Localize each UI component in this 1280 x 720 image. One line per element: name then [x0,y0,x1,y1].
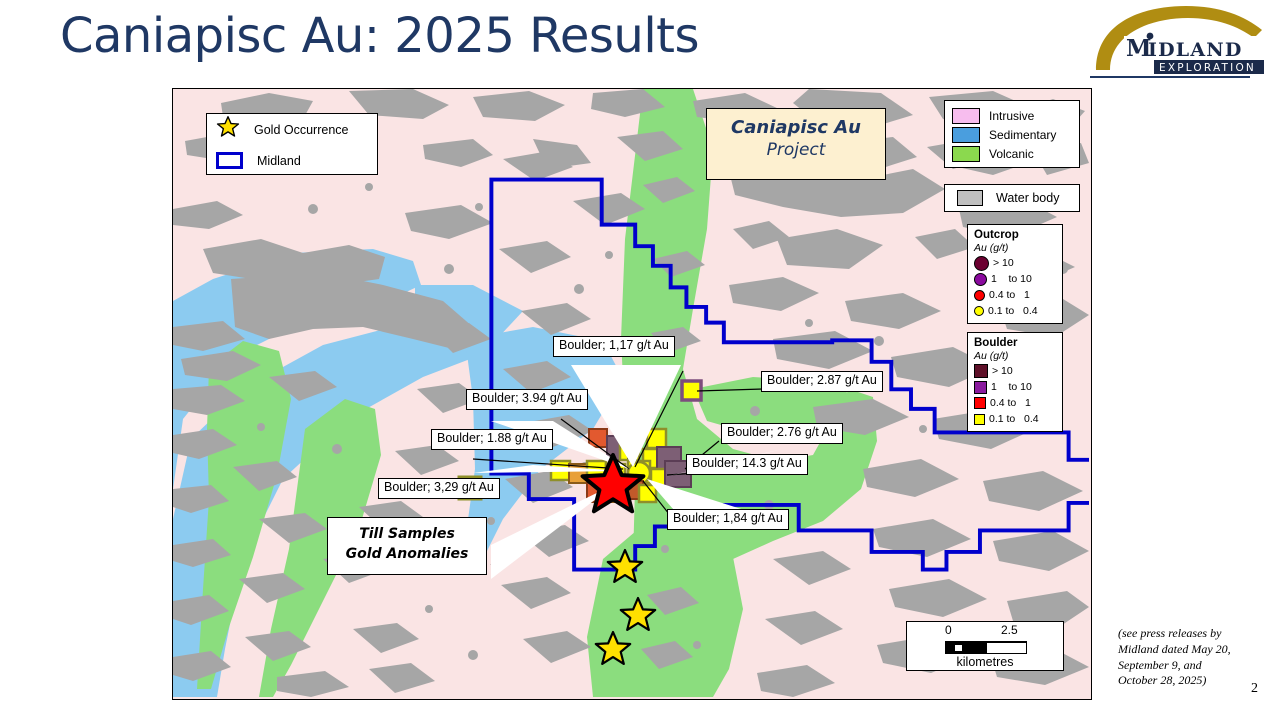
legend-outcrop-row: > 10 [974,255,1062,271]
sedimentary-swatch [952,127,980,143]
boulder-label-14-3: Boulder; 14.3 g/t Au [686,454,808,475]
callout-till-samples: Till Samples Gold Anomalies [327,517,487,575]
legend-boulder-title: Boulder [974,337,1062,350]
legend-label: Water body [996,191,1059,205]
scale-bar-graphic [945,641,1027,654]
legend-label: > 10 [992,365,1013,377]
outcrop-dot-icon [974,306,984,316]
legend-boulder-row: 1 to 10 [974,379,1062,395]
legend-label: Sedimentary [989,128,1056,142]
legend-item-sedimentary: Sedimentary [952,125,1079,144]
legend-outcrop-row: 0.4 to 1 [974,287,1062,303]
legend-label: > 10 [993,257,1014,269]
callout-line1: Caniapisc Au [707,117,885,138]
boulder-label-3-94: Boulder; 3.94 g/t Au [466,389,588,410]
legend-item-volcanic: Volcanic [952,144,1079,163]
boulder-label-1-84: Boulder; 1,84 g/t Au [667,509,789,530]
legend-label: Intrusive [989,109,1034,123]
page-title: Caniapisc Au: 2025 Results [60,8,699,64]
boulder-label-2-87: Boulder; 2.87 g/t Au [761,371,883,392]
midland-exploration-logo: M IDLAND EXPLORATION [1090,4,1270,76]
legend-boulder-subtitle: Au (g/t) [974,350,1062,362]
blue-outline-square-icon [216,152,243,169]
callout-line2: Gold Anomalies [328,546,486,562]
boulder-square-icon [974,414,985,425]
press-release-footnote: (see press releases by Midland dated May… [1118,626,1243,689]
boulder-label-1-88: Boulder; 1.88 g/t Au [431,429,553,450]
page-number: 2 [1251,681,1258,697]
legend-item-gold-occurrence: Gold Occurrence [207,114,377,145]
legend-symbols: Gold Occurrence Midland [206,113,378,175]
legend-rock-types: Intrusive Sedimentary Volcanic [944,100,1080,168]
boulder-square-icon [974,381,987,394]
svg-text:EXPLORATION: EXPLORATION [1159,62,1256,74]
legend-outcrop: Outcrop Au (g/t) > 10 1 to 10 0.4 to 1 0… [967,224,1063,324]
boulder-square-icon [974,364,988,378]
outcrop-dot-icon [974,273,987,286]
callout-line1: Till Samples [328,526,486,542]
legend-label: 0.4 to 1 [989,289,1030,301]
boulder-square-icon [974,397,986,409]
scale-min-label: 0 [945,623,952,637]
legend-boulder-row: 0.4 to 1 [974,395,1062,411]
legend-label: 0.1 to 0.4 [988,305,1038,317]
scale-max-label: 2.5 [1001,623,1018,637]
legend-item-intrusive: Intrusive [952,106,1079,125]
water-swatch [957,190,983,206]
svg-text:IDLAND: IDLAND [1148,39,1243,61]
legend-label: Gold Occurrence [254,123,348,137]
legend-outcrop-row: 0.1 to 0.4 [974,303,1062,319]
volcanic-swatch [952,146,980,162]
legend-outcrop-row: 1 to 10 [974,271,1062,287]
boulder-label-1-17: Boulder; 1,17 g/t Au [553,336,675,357]
legend-water-body: Water body [944,184,1080,212]
callout-caniapisc-au-project: Caniapisc Au Project [706,108,886,180]
boulder-label-3-29: Boulder; 3,29 g/t Au [378,478,500,499]
scale-bar: 0 2.5 kilometres [906,621,1064,671]
legend-label: 0.4 to 1 [990,397,1031,409]
geology-map[interactable] [172,88,1092,700]
scale-units-label: kilometres [907,655,1063,669]
gold-star-icon [216,115,240,144]
intrusive-swatch [952,108,980,124]
outcrop-dot-icon [974,256,989,271]
legend-boulder: Boulder Au (g/t) > 10 1 to 10 0.4 to 1 0… [967,332,1063,432]
boulder-sample-square [589,429,607,447]
legend-item-midland: Midland [207,145,377,176]
legend-item-water: Water body [945,185,1079,211]
legend-label: Volcanic [989,147,1034,161]
legend-boulder-row: > 10 [974,363,1062,379]
legend-label: 1 to 10 [991,273,1032,285]
legend-outcrop-title: Outcrop [974,229,1062,242]
legend-boulder-row: 0.1 to 0.4 [974,411,1062,427]
legend-label: 0.1 to 0.4 [989,413,1039,425]
legend-label: 1 to 10 [991,381,1032,393]
legend-label: Midland [257,154,301,168]
title-rule [1090,76,1250,78]
outcrop-dot-icon [974,290,985,301]
boulder-label-2-76: Boulder; 2.76 g/t Au [721,423,843,444]
legend-outcrop-subtitle: Au (g/t) [974,242,1062,254]
callout-line2: Project [707,140,885,160]
